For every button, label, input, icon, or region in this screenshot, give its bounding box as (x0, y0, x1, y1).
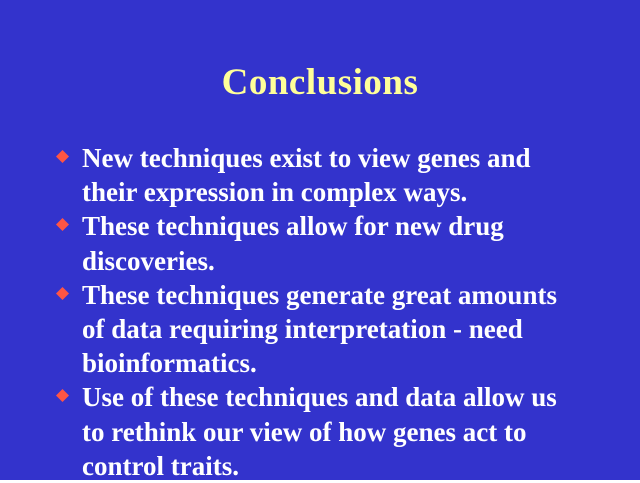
list-item-line: to rethink our view of how genes act to (82, 415, 616, 449)
list-item-line: their expression in complex ways. (82, 175, 616, 209)
list-item-line: of data requiring interpretation - need (82, 312, 616, 346)
list-item: These techniques generate great amounts … (56, 278, 616, 381)
list-item: Use of these techniques and data allow u… (56, 380, 616, 483)
list-item: These techniques allow for new drug disc… (56, 209, 616, 277)
list-item-line: These techniques generate great amounts (82, 278, 616, 312)
diamond-bullet-icon (56, 218, 69, 231)
list-item-text: These techniques allow for new drug disc… (82, 209, 616, 277)
diamond-bullet-icon (56, 150, 69, 163)
list-item-line: bioinformatics. (82, 346, 616, 380)
diamond-bullet-icon (56, 389, 69, 402)
bullet-list: New techniques exist to view genes and t… (56, 141, 616, 483)
page-title: Conclusions (0, 62, 640, 104)
list-item-text: Use of these techniques and data allow u… (82, 380, 616, 483)
list-item-text: New techniques exist to view genes and t… (82, 141, 616, 209)
list-item-line: control traits. (82, 449, 616, 483)
list-item-line: These techniques allow for new drug (82, 209, 616, 243)
list-item-line: discoveries. (82, 244, 616, 278)
diamond-bullet-icon (56, 287, 69, 300)
list-item-text: These techniques generate great amounts … (82, 278, 616, 381)
presentation-slide: Conclusions New techniques exist to view… (0, 0, 640, 480)
list-item-line: Use of these techniques and data allow u… (82, 380, 616, 414)
list-item-line: New techniques exist to view genes and (82, 141, 616, 175)
list-item: New techniques exist to view genes and t… (56, 141, 616, 209)
